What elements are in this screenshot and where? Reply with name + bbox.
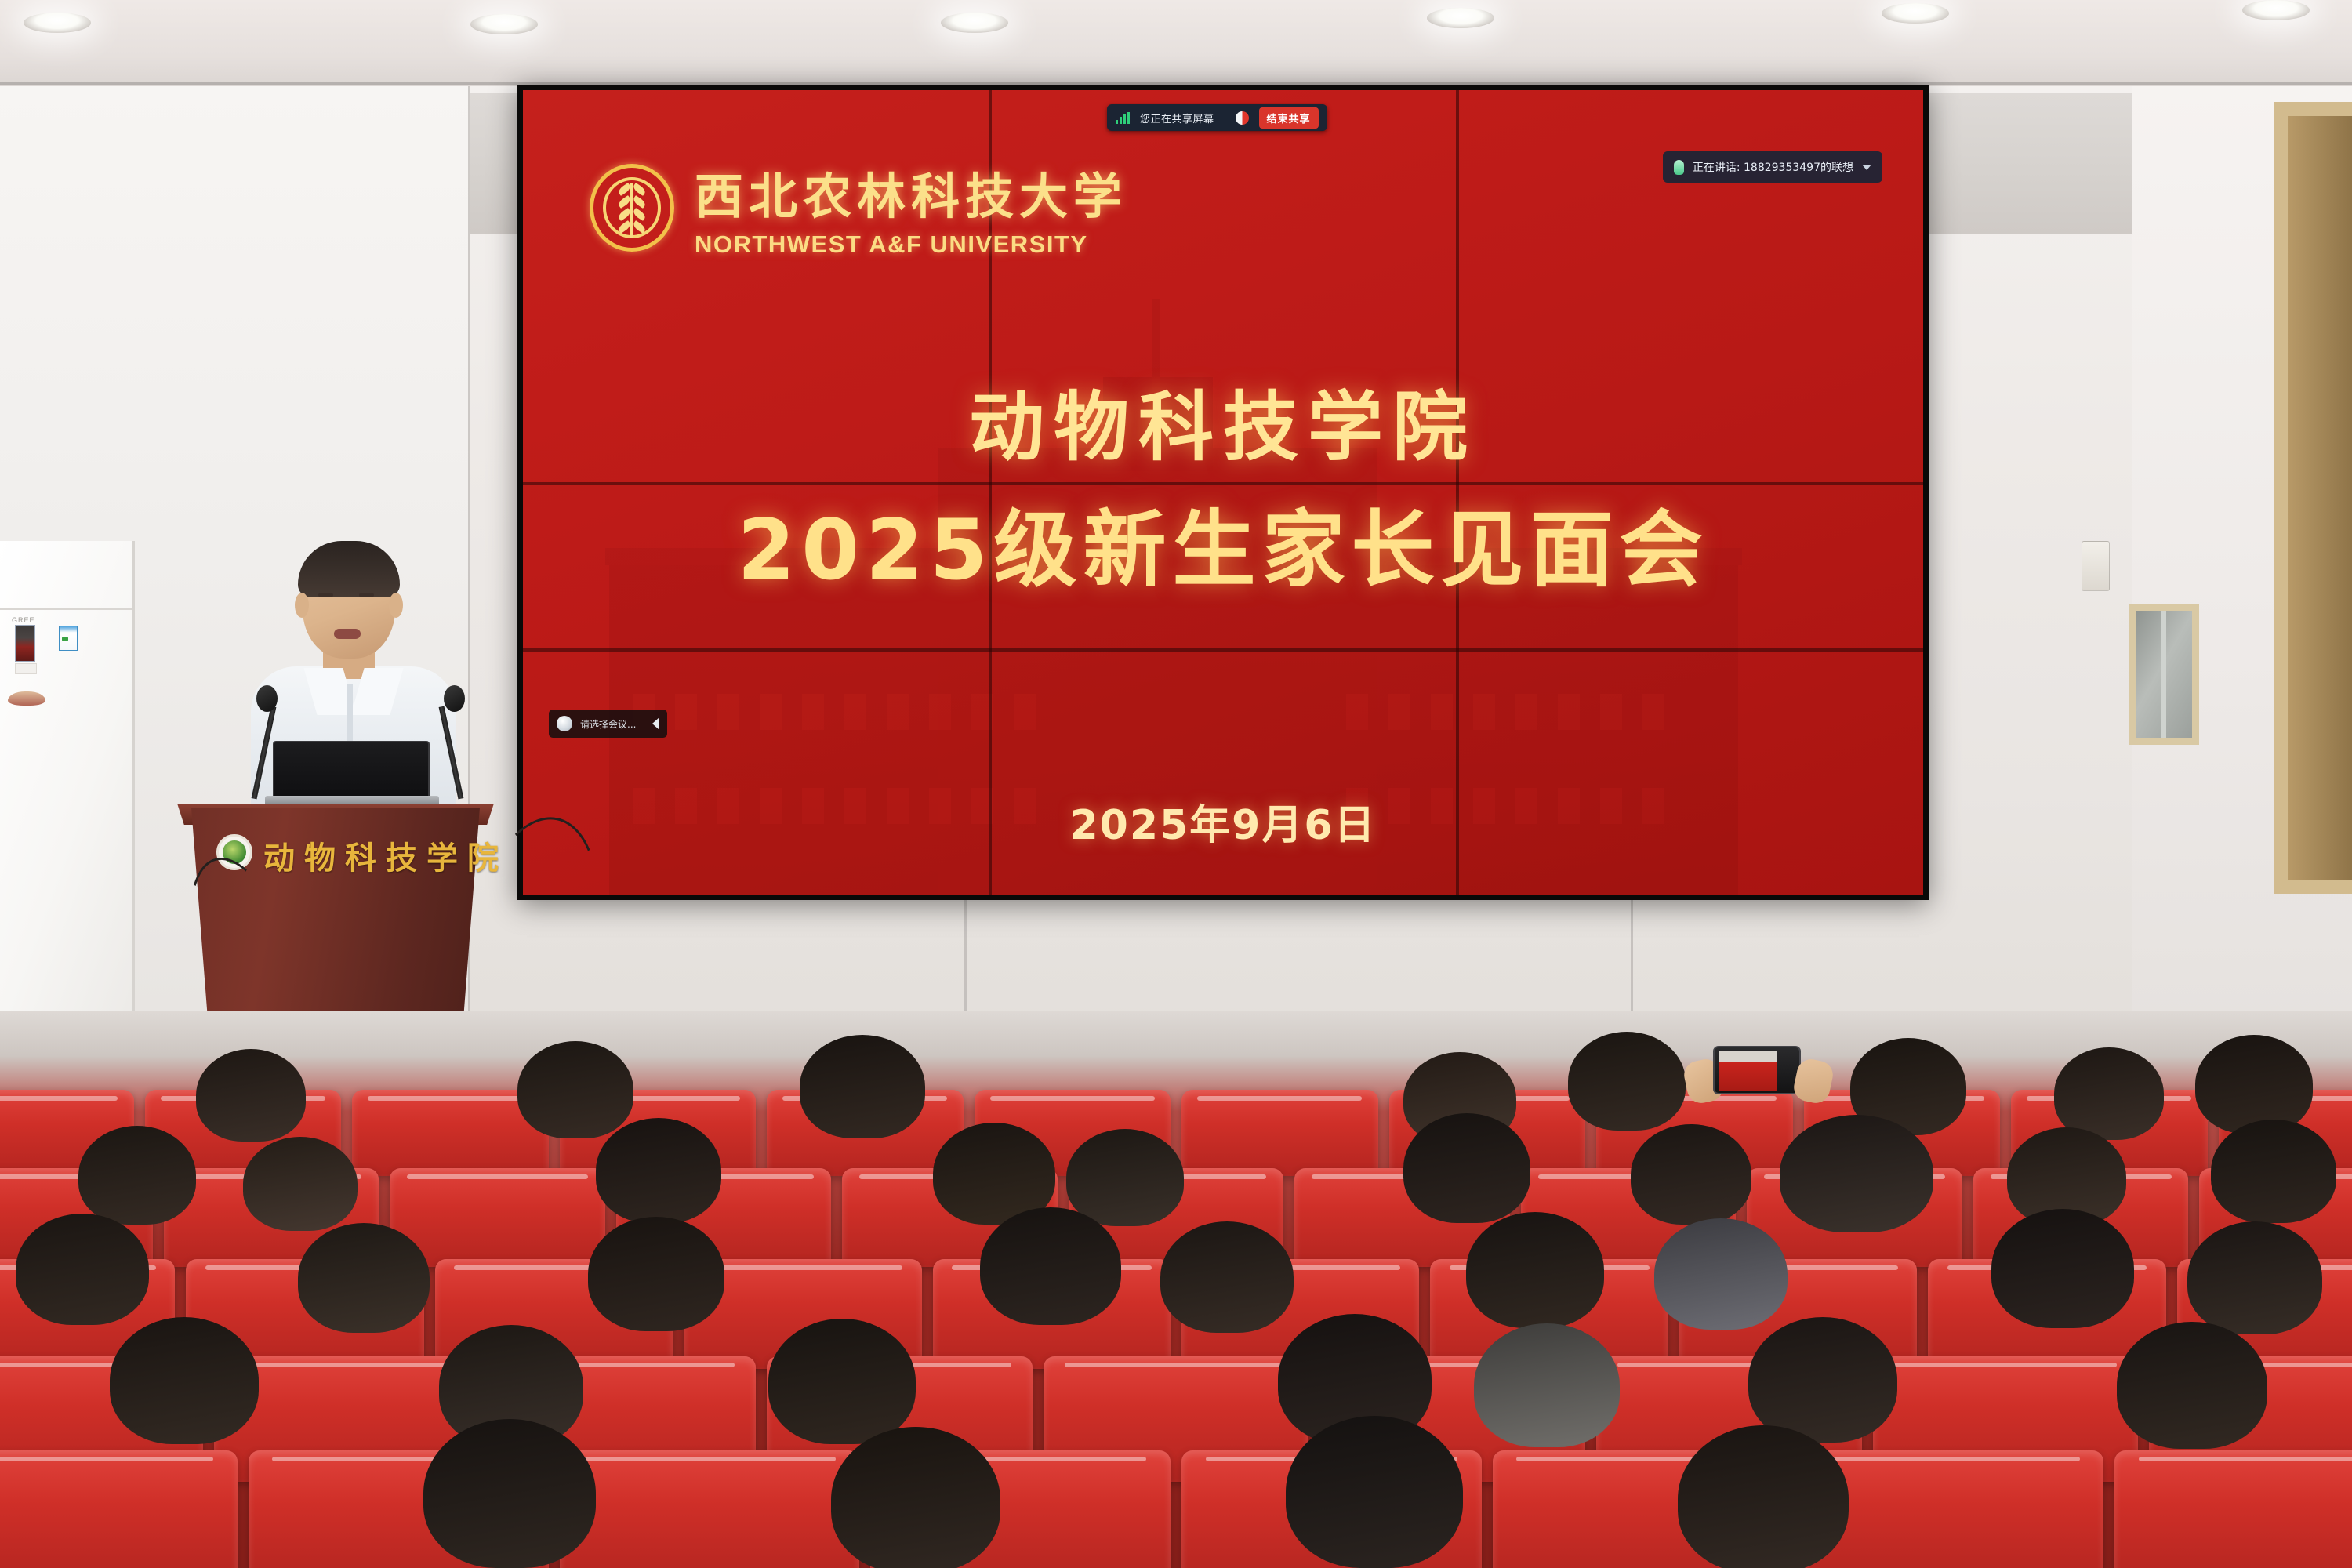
small-window [2129, 604, 2199, 745]
audience-head [16, 1214, 149, 1325]
pause-share-icon[interactable] [1236, 111, 1249, 125]
energy-label-sticker [59, 626, 78, 651]
active-speaker-pill[interactable]: 正在讲话: 18829353497的联想 [1663, 151, 1882, 183]
microphone-head-icon [256, 685, 278, 712]
audience-head [78, 1126, 196, 1225]
screen-share-toolbar[interactable]: 您正在共享屏幕 结束共享 [1107, 104, 1327, 131]
ceiling-light [470, 14, 538, 34]
signal-bars-icon [1116, 112, 1130, 124]
phone-screen-preview [1719, 1051, 1777, 1091]
chevron-left-icon[interactable] [652, 717, 659, 730]
auditorium-scene: GREE [0, 0, 2352, 1568]
audience-head [1748, 1317, 1897, 1443]
ceiling [0, 0, 2352, 94]
recording-phone[interactable] [1713, 1046, 1801, 1094]
audience-head [2211, 1120, 2336, 1223]
audience-head [800, 1035, 925, 1138]
audience-head [1678, 1425, 1849, 1568]
video-wall-display: 西北农林科技大学 NORTHWEST A&F UNIVERSITY 动物科技学院… [523, 90, 1923, 895]
audience-head [2187, 1221, 2322, 1334]
university-name-cn: 西北农林科技大学 [695, 157, 1127, 227]
ceiling-light [2242, 0, 2310, 20]
university-lockup: 西北农林科技大学 NORTHWEST A&F UNIVERSITY [590, 157, 1127, 259]
ceiling-light [24, 13, 91, 33]
stop-share-button[interactable]: 结束共享 [1259, 107, 1319, 129]
wheat-crest-icon [590, 164, 674, 252]
wall-speaker [2082, 541, 2110, 591]
panel-bezel [523, 648, 1923, 652]
audience-head [1631, 1124, 1751, 1225]
share-status-text: 您正在共享屏幕 [1140, 111, 1214, 125]
audience-head [423, 1419, 596, 1568]
microphone-icon [1674, 160, 1684, 175]
air-conditioner-unit: GREE [0, 541, 135, 1058]
audience-head [596, 1118, 721, 1223]
audience-head [1066, 1129, 1184, 1226]
presenter-ear [295, 593, 309, 618]
audience-head [196, 1049, 306, 1142]
presenter-laptop[interactable] [273, 741, 430, 797]
participant-icon [557, 716, 572, 731]
wooden-door-frame[interactable] [2274, 102, 2352, 894]
ceiling-light [1427, 8, 1494, 28]
slide-date: 2025年9月6日 [523, 792, 1923, 851]
audience-head [2195, 1035, 2313, 1134]
audience-head [243, 1137, 358, 1231]
audience-head [831, 1427, 1000, 1568]
window-mullion [2161, 611, 2166, 738]
audience-head [1286, 1416, 1463, 1568]
seat[interactable] [1181, 1090, 1378, 1176]
audience-head [1466, 1212, 1604, 1328]
presenter-mouth [334, 629, 361, 639]
meeting-mini-toolbar[interactable]: 请选择会议... [549, 710, 667, 738]
mini-toolbar-text: 请选择会议... [580, 717, 636, 731]
audience-head [2117, 1322, 2267, 1449]
active-speaker-text: 正在讲话: 18829353497的联想 [1693, 159, 1853, 175]
presenter-eye [318, 593, 333, 597]
presenter-hair [298, 541, 400, 597]
audience-head [1991, 1209, 2134, 1328]
audience-head [1160, 1221, 1294, 1333]
audience-head [2054, 1047, 2164, 1140]
audience-head [1780, 1115, 1933, 1232]
slide-subtitle: 2025级新生家长见面会 [523, 482, 1923, 603]
audience-head [768, 1319, 916, 1444]
divider [644, 717, 644, 731]
audience-head [1403, 1113, 1530, 1223]
seat[interactable] [0, 1450, 238, 1568]
presenter-eye [359, 593, 374, 597]
audience-head [980, 1207, 1121, 1325]
led-video-wall: 西北农林科技大学 NORTHWEST A&F UNIVERSITY 动物科技学院… [517, 85, 1929, 900]
ceiling-light [1882, 3, 1949, 24]
audience-area [0, 1011, 2352, 1568]
audience-head [517, 1041, 633, 1138]
audience-head [1474, 1323, 1620, 1447]
university-name-en: NORTHWEST A&F UNIVERSITY [695, 230, 1127, 259]
ceiling-light [941, 13, 1008, 33]
microphone-head-icon [444, 685, 465, 712]
university-names: 西北农林科技大学 NORTHWEST A&F UNIVERSITY [695, 157, 1127, 259]
slide-title: 动物科技学院 [523, 366, 1923, 475]
audience-head [110, 1317, 259, 1444]
seat-row [0, 1450, 2352, 1568]
ac-brand-logo: GREE [12, 616, 35, 624]
audience-head [588, 1217, 724, 1331]
divider [1225, 111, 1225, 124]
audience-head [1568, 1032, 1686, 1131]
audience-head [1654, 1218, 1788, 1330]
podium-label: 动物科技学院 [263, 833, 508, 878]
seat[interactable] [2114, 1450, 2352, 1568]
ac-emblem-icon [8, 691, 45, 706]
audience-head [298, 1223, 430, 1333]
chevron-down-icon[interactable] [1862, 165, 1871, 170]
ac-display-screen [15, 625, 35, 662]
ac-control-keys[interactable] [15, 663, 37, 674]
seat[interactable] [560, 1450, 860, 1568]
presenter-ear [389, 593, 403, 618]
ac-seam [0, 608, 132, 610]
